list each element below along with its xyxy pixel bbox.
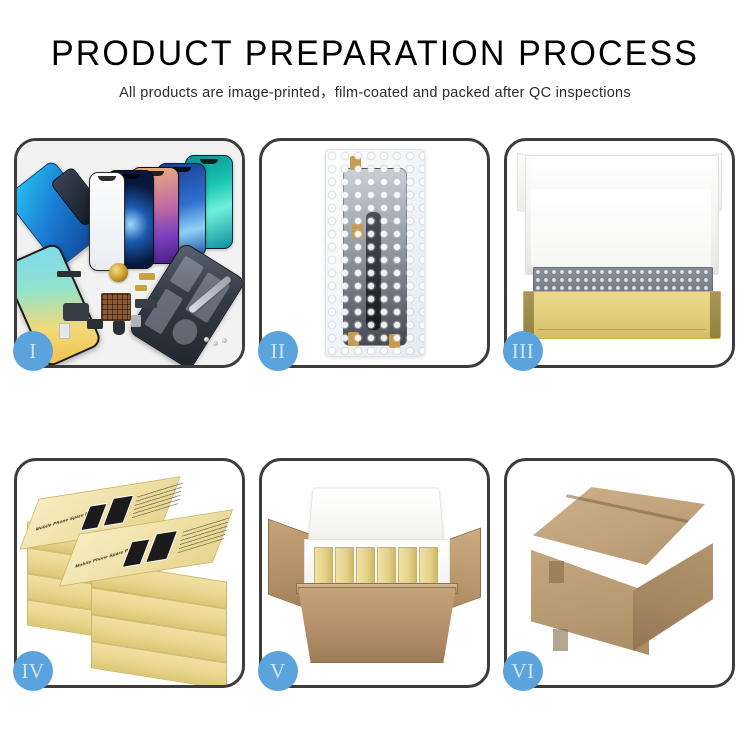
page-title: PRODUCT PREPARATION PROCESS	[11, 34, 739, 74]
yellow-box-base	[523, 291, 721, 339]
phone-front-glass	[89, 172, 125, 271]
carton-top-face	[533, 487, 705, 565]
gold-contact-part	[139, 273, 155, 280]
step-panel-2: II	[259, 138, 490, 368]
screws-group	[204, 337, 230, 349]
step-3-image	[507, 141, 732, 365]
header: PRODUCT PREPARATION PROCESS All products…	[0, 0, 750, 102]
connector-part	[57, 271, 81, 277]
sealed-carton	[523, 487, 717, 665]
adhesive-tab	[348, 332, 359, 346]
flex-cable-part	[63, 303, 89, 321]
buzzer-part	[113, 321, 125, 335]
step-badge-1: I	[13, 331, 53, 371]
foam-sheet	[531, 189, 711, 267]
product-preparation-infographic: PRODUCT PREPARATION PROCESS All products…	[0, 0, 750, 750]
carton-body	[298, 587, 456, 663]
wrapped-flex-cable	[366, 212, 381, 330]
step-panel-6: VI	[504, 458, 735, 688]
step-panel-4: Mobile Phone Spare Parts Mobile Phone Sp…	[14, 458, 245, 688]
sim-tray-part	[59, 323, 70, 339]
adhesive-tab	[350, 156, 361, 170]
step-5-image	[262, 461, 487, 685]
bubble-wrap-bag	[325, 149, 425, 357]
adhesive-tab	[352, 224, 363, 238]
adhesive-tab	[389, 334, 400, 348]
step-panel-1: I	[14, 138, 245, 368]
inner-boxes-row	[314, 547, 438, 587]
camera-module-part	[87, 319, 103, 329]
step-panel-3: III	[504, 138, 735, 368]
page-subtitle: All products are image-printed，film-coat…	[0, 84, 750, 102]
step-6-image	[507, 461, 732, 685]
inner-box	[377, 547, 396, 587]
step-4-image: Mobile Phone Spare Parts Mobile Phone Sp…	[17, 461, 242, 685]
carton-tape-lower	[553, 629, 568, 651]
step-panel-5: V	[259, 458, 490, 688]
step-badge-4: IV	[13, 651, 53, 691]
step-1-image	[17, 141, 242, 365]
speaker-coil-part	[109, 263, 128, 282]
stacked-boxes: Mobile Phone Spare Parts Mobile Phone Sp…	[27, 479, 233, 675]
chip-array-part	[101, 293, 131, 321]
step-badge-6: VI	[503, 651, 543, 691]
step-badge-3: III	[503, 331, 543, 371]
inner-box	[335, 547, 354, 587]
bracket-part	[131, 315, 141, 327]
carton-tape-upper	[549, 561, 564, 583]
inner-box	[356, 547, 375, 587]
ribbon-part	[135, 299, 157, 308]
process-steps-grid: I II	[14, 138, 736, 688]
inner-box	[398, 547, 417, 587]
gold-contact-part	[135, 285, 147, 291]
step-2-image	[262, 141, 487, 365]
step-badge-5: V	[258, 651, 298, 691]
inner-box	[314, 547, 333, 587]
inner-box	[419, 547, 438, 587]
step-badge-2: II	[258, 331, 298, 371]
